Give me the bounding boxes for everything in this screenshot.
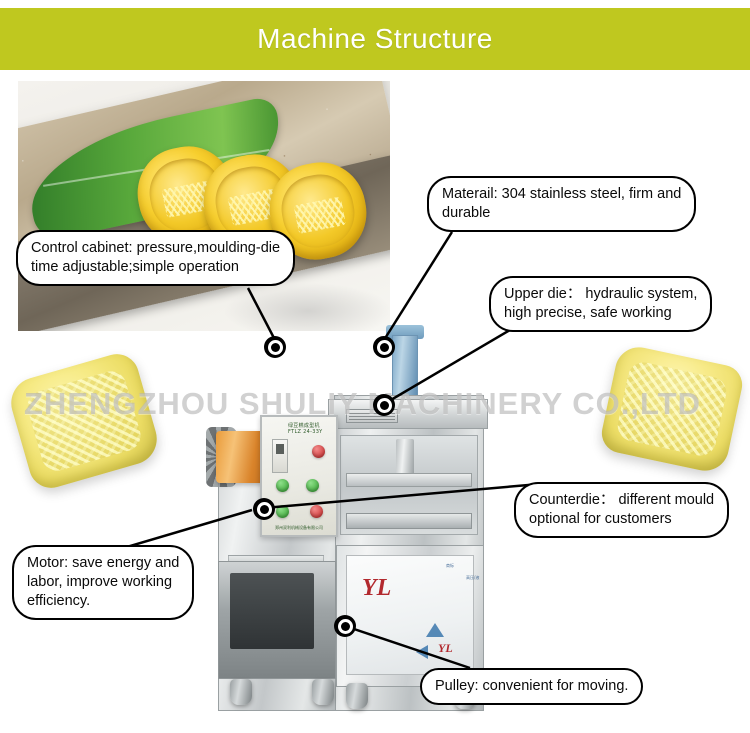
panel-button-emergency[interactable] — [310, 505, 323, 518]
callout-control-cabinet-line2: time adjustable;simple operation — [31, 258, 280, 277]
piston — [396, 439, 414, 475]
callout-counterdie: Counterdie： different mould optional for… — [514, 482, 729, 538]
callout-counterdie-line1: Counterdie： different mould — [529, 491, 714, 510]
mooncake-sample-left — [5, 349, 163, 493]
caster-wheel — [230, 679, 252, 705]
lower-cabinet-panel — [346, 555, 474, 675]
mooncake-tray-photo — [18, 81, 390, 331]
cabinet-triangle-left-icon — [416, 645, 428, 659]
header-banner: Machine Structure — [0, 8, 750, 70]
callout-motor-line2: labor, improve working — [27, 573, 179, 592]
callout-material-line2: durable — [442, 204, 681, 223]
callout-control-cabinet: Control cabinet: pressure,moulding-die t… — [16, 230, 295, 286]
callout-material-line1: Materail: 304 stainless steel, firm and — [442, 185, 681, 204]
page-root: Machine Structure — [0, 0, 750, 733]
callout-upper-die: Upper die： hydraulic system, high precis… — [489, 276, 712, 332]
callout-counterdie-line2: optional for customers — [529, 510, 714, 529]
connector-dot-counterdie — [253, 498, 275, 520]
page-title: Machine Structure — [257, 23, 493, 55]
callout-pulley-line1: Pulley: convenient for moving. — [435, 677, 628, 696]
panel-button-start-1[interactable] — [276, 479, 289, 492]
callout-material: Materail: 304 stainless steel, firm and … — [427, 176, 696, 232]
control-panel[interactable]: 绿豆糕成型机 FTLZ 24-33Y 郑州双利机械设备有限公司 — [260, 415, 338, 537]
machine-illustration: 绿豆糕成型机 FTLZ 24-33Y 郑州双利机械设备有限公司 YL YL 商标 — [200, 323, 500, 713]
callout-upper-die-line2: high precise, safe working — [504, 304, 697, 323]
motor-unit — [216, 431, 264, 483]
yl-logo-large: YL — [362, 575, 391, 602]
control-panel-title: 绿豆糕成型机 FTLZ 24-33Y — [288, 423, 323, 435]
callout-motor: Motor: save energy and labor, improve wo… — [12, 545, 194, 620]
panel-button-start-2[interactable] — [306, 479, 319, 492]
lower-left-opening — [230, 573, 314, 649]
connector-dot-material — [373, 336, 395, 358]
control-panel-title-line2: FTLZ 24-33Y — [288, 429, 323, 435]
callout-upper-die-line1: Upper die： hydraulic system, — [504, 285, 697, 304]
cabinet-text-mid: 商标 — [446, 563, 454, 568]
panel-button-start-3[interactable] — [276, 505, 289, 518]
cabinet-text-right: 高压/液 — [466, 575, 479, 580]
cabinet-triangle-up-icon — [426, 623, 444, 637]
yl-logo-small: YL — [438, 641, 453, 656]
panel-meter — [272, 439, 288, 473]
connector-dot-pulley — [334, 615, 356, 637]
callout-motor-line1: Motor: save energy and — [27, 554, 179, 573]
caster-wheel — [346, 683, 368, 709]
connector-dot-control-cabinet — [264, 336, 286, 358]
callout-pulley: Pulley: convenient for moving. — [420, 668, 643, 705]
mooncake-sample-right — [598, 343, 746, 475]
control-panel-footer: 郑州双利机械设备有限公司 — [268, 525, 330, 530]
connector-dot-upper-die — [373, 394, 395, 416]
counter-die-bar — [346, 513, 472, 529]
callout-motor-line3: efficiency. — [27, 592, 179, 611]
caster-wheel — [312, 679, 334, 705]
upper-die-bar — [346, 473, 472, 487]
callout-control-cabinet-line1: Control cabinet: pressure,moulding-die — [31, 239, 280, 258]
panel-button-stop[interactable] — [312, 445, 325, 458]
